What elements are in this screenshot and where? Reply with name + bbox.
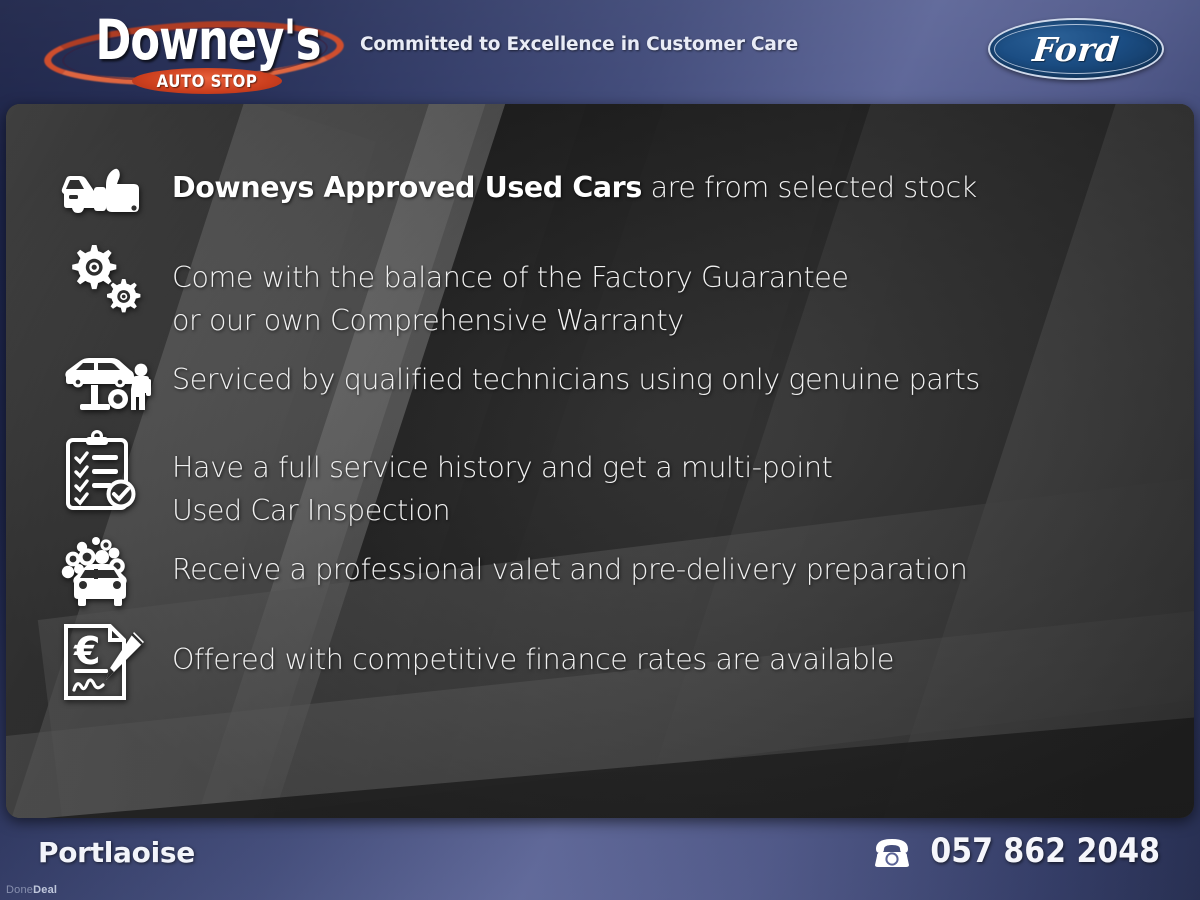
list-item: Downeys Approved Used Cars are from sele…: [54, 158, 1154, 222]
list-item-line-1: Receive a professional valet and pre-del…: [172, 548, 967, 591]
list-item-line-1: Offered with competitive finance rates a…: [172, 638, 894, 681]
logo-auto-stop-badge: AUTO STOP: [132, 68, 282, 94]
downeys-logo[interactable]: Downey's AUTO STOP: [36, 6, 356, 98]
list-item-text: Downeys Approved Used Cars are from sele…: [172, 158, 977, 209]
footer-phone-number[interactable]: 057 862 2048: [930, 832, 1160, 871]
header-tagline: Committed to Excellence in Customer Care: [360, 34, 798, 55]
list-item: Receive a professional valet and pre-del…: [54, 540, 1154, 604]
list-item-text: Have a full service history and get a mu…: [172, 438, 832, 532]
header-bar: Downey's AUTO STOP Committed to Excellen…: [0, 0, 1200, 100]
list-item-line-1: Serviced by qualified technicians using …: [172, 358, 980, 401]
list-item-line-1: Have a full service history and get a mu…: [172, 446, 832, 489]
list-item-text-bold: Downeys Approved Used Cars: [172, 171, 642, 204]
list-item: Have a full service history and get a mu…: [54, 438, 1154, 532]
gears-icon: [54, 248, 172, 312]
list-item-line-2: or our own Comprehensive Warranty: [172, 299, 849, 342]
list-item-text: Offered with competitive finance rates a…: [172, 630, 894, 681]
list-item: Come with the balance of the Factory Gua…: [54, 248, 1154, 342]
list-item: Serviced by qualified technicians using …: [54, 350, 1154, 414]
list-item: € Offered with competitive finance rates…: [54, 630, 1154, 694]
car-lift-mechanic-icon: [54, 350, 172, 414]
list-item-line-2: Used Car Inspection: [172, 489, 832, 532]
watermark-suffix: Deal: [33, 884, 57, 896]
euro-contract-pen-icon: €: [54, 630, 172, 694]
logo-brand-word: Downey's: [93, 8, 323, 73]
list-item-text: Serviced by qualified technicians using …: [172, 350, 980, 401]
flyer-canvas: Downey's AUTO STOP Committed to Excellen…: [0, 0, 1200, 900]
footer-bar: Portlaoise 057 862 2048: [0, 818, 1200, 900]
car-thumbs-up-icon: [54, 158, 172, 222]
donedeal-watermark: DoneDeal: [6, 884, 57, 896]
list-item-text-regular: are from selected stock: [642, 171, 977, 204]
car-wash-icon: [54, 540, 172, 604]
svg-text:€: €: [73, 629, 100, 673]
watermark-prefix: Done: [6, 884, 33, 896]
clipboard-checklist-icon: [54, 438, 172, 502]
footer-phone-group[interactable]: 057 862 2048: [870, 834, 1160, 869]
ford-logo[interactable]: Ford: [988, 18, 1164, 80]
ford-logo-wordmark: Ford: [1031, 30, 1121, 69]
telephone-icon: [870, 836, 914, 868]
logo-auto-stop-label: AUTO STOP: [157, 71, 258, 92]
list-item-text: Receive a professional valet and pre-del…: [172, 540, 967, 591]
benefits-list: Downeys Approved Used Cars are from sele…: [6, 104, 1194, 818]
list-item-text: Come with the balance of the Factory Gua…: [172, 248, 849, 342]
footer-location-label: Portlaoise: [38, 836, 195, 869]
ford-logo-inner-ring: Ford: [994, 24, 1158, 74]
list-item-line-1: Come with the balance of the Factory Gua…: [172, 256, 849, 299]
benefits-panel: Downeys Approved Used Cars are from sele…: [6, 104, 1194, 818]
